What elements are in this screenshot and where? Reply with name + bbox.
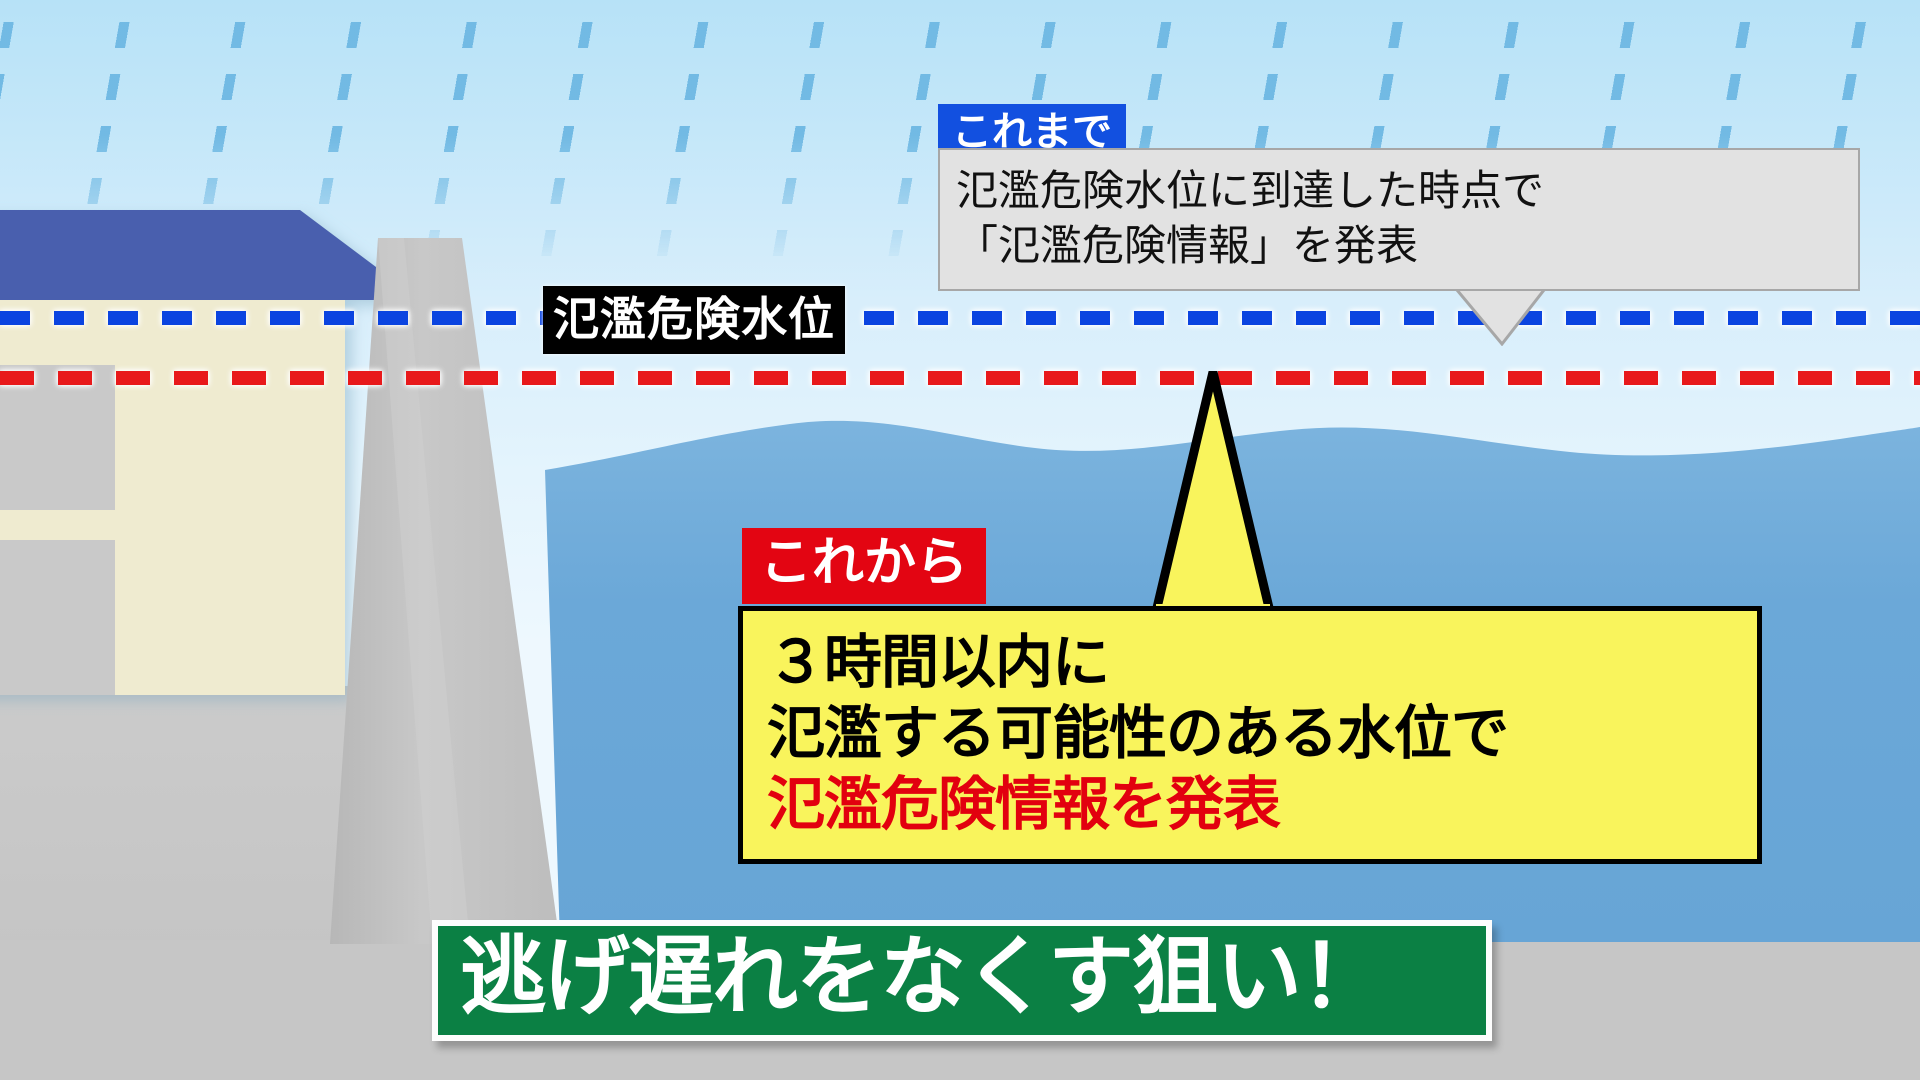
- new-level-dashed-line: [0, 371, 1920, 385]
- callout-after-line-3: 氾濫危険情報を発表: [767, 769, 1735, 840]
- callout-after-tab: これから: [742, 528, 986, 604]
- danger-level-label: 氾濫危険水位: [543, 286, 845, 354]
- house-roof: [0, 210, 420, 300]
- danger-level-dashed-line: [0, 311, 1920, 325]
- summary-banner-text: 逃げ遅れをなくす狙い！: [460, 932, 1472, 1023]
- infographic-canvas: 氾濫危険水位 これまで 氾濫危険水位に到達した時点で 「氾濫危険情報」を発表 こ…: [0, 0, 1920, 1080]
- summary-banner: 逃げ遅れをなくす狙い！: [432, 920, 1492, 1041]
- callout-before-line-1: 氾濫危険水位に到達した時点で: [956, 164, 1842, 219]
- callout-after-pointer: [1148, 368, 1278, 618]
- callout-after-box: ３時間以内に 氾濫する可能性のある水位で 氾濫危険情報を発表: [738, 606, 1762, 864]
- house-window: [0, 365, 115, 510]
- callout-before-box: 氾濫危険水位に到達した時点で 「氾濫危険情報」を発表: [938, 148, 1860, 291]
- house-window: [0, 540, 115, 695]
- callout-after-line-2: 氾濫する可能性のある水位で: [767, 698, 1735, 769]
- callout-before-line-2: 「氾濫危険情報」を発表: [956, 219, 1842, 274]
- levee: [330, 238, 560, 944]
- callout-after-line-1: ３時間以内に: [767, 627, 1735, 698]
